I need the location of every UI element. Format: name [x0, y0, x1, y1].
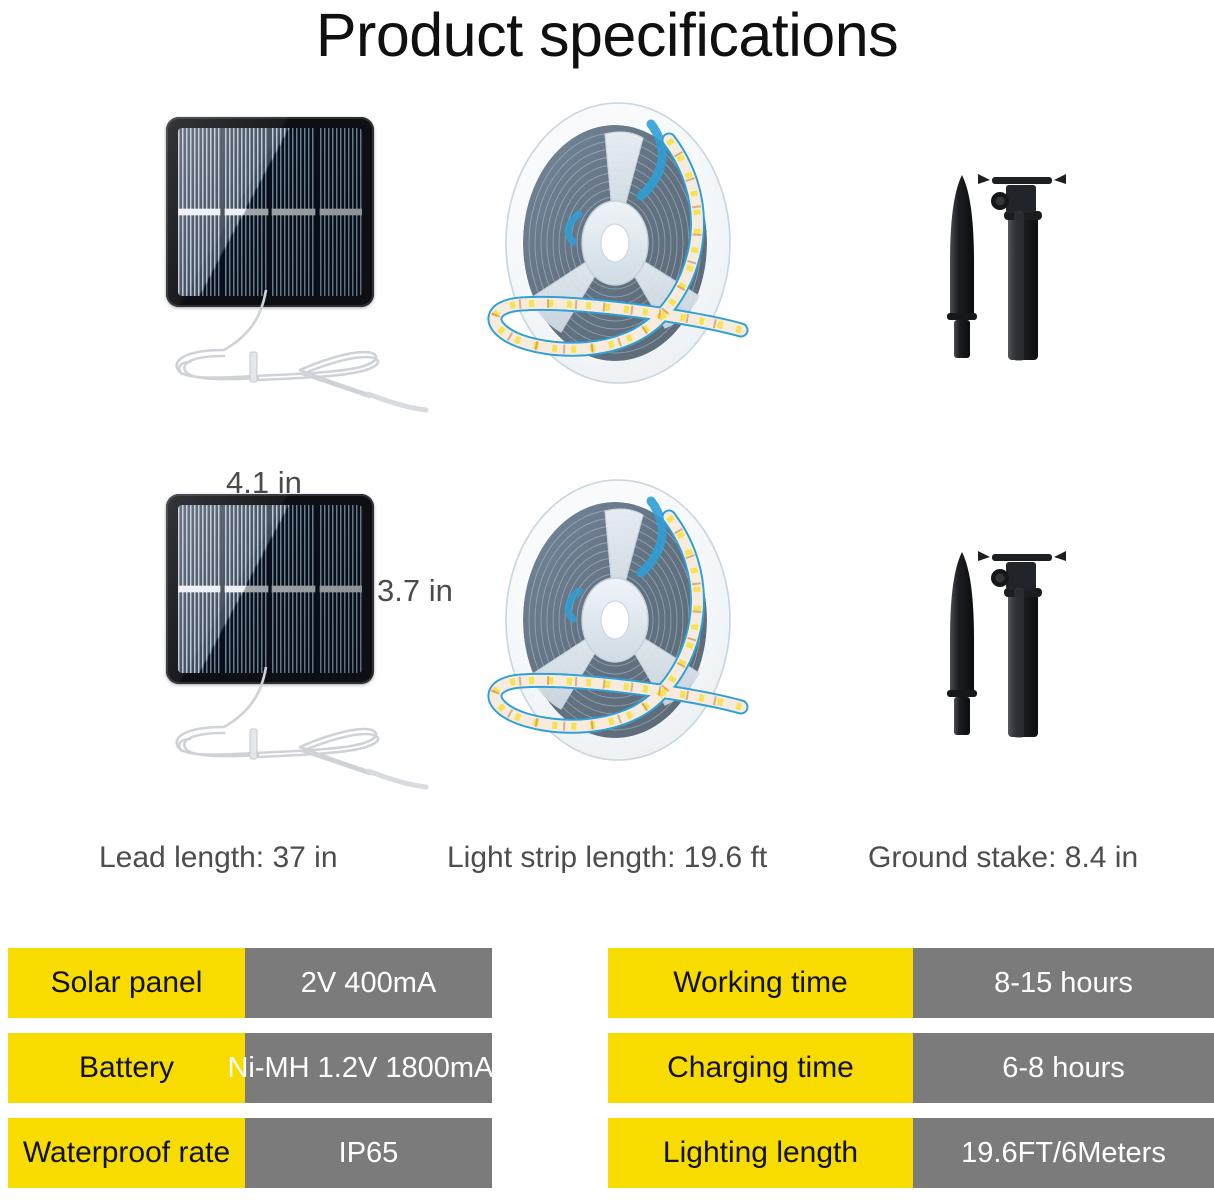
caption-ground-stake: Ground stake: 8.4 in — [868, 840, 1138, 876]
stake-clamp — [1006, 562, 1036, 590]
solar-cell — [320, 128, 362, 296]
spec-value: IP65 — [245, 1118, 492, 1188]
lead-cable-icon — [150, 290, 480, 425]
spec-pair: Battery Ni-MH 1.2V 1800mAh — [8, 1033, 492, 1103]
busbar — [272, 586, 314, 592]
busbar — [272, 209, 314, 215]
panel-height-dimension-label: 3.7 in — [377, 574, 453, 608]
spec-pair: Working time 8-15 hours — [608, 948, 1214, 1018]
solar-cell — [272, 128, 314, 296]
solar-cell — [178, 505, 220, 673]
stake-spike — [950, 552, 974, 692]
spec-value: 2V 400mA — [245, 948, 492, 1018]
solar-panel-cells — [178, 128, 362, 296]
solar-cell — [225, 505, 267, 673]
stake-clamp — [1006, 185, 1036, 213]
product-illustration-row — [0, 95, 1214, 425]
busbar — [225, 209, 267, 215]
spec-table: Solar panel 2V 400mA Working time 8-15 h… — [0, 948, 1214, 1203]
solar-cell — [272, 505, 314, 673]
busbar — [178, 209, 220, 215]
spec-label: Waterproof rate — [8, 1118, 245, 1188]
busbar — [320, 209, 362, 215]
spec-pair: Lighting length 19.6FT/6Meters — [608, 1118, 1214, 1188]
caption-lead-length: Lead length: 37 in — [99, 840, 338, 876]
spec-value: 8-15 hours — [913, 948, 1214, 1018]
table-row: Solar panel 2V 400mA Working time 8-15 h… — [0, 948, 1214, 1018]
stake-spike — [950, 175, 974, 315]
spec-label: Charging time — [608, 1033, 913, 1103]
lead-cable-icon — [150, 667, 480, 802]
caption-light-strip-length: Light strip length: 19.6 ft — [447, 840, 767, 876]
stake-bracket — [992, 554, 1052, 561]
busbar — [225, 586, 267, 592]
spec-pair: Waterproof rate IP65 — [8, 1118, 492, 1188]
table-row: Battery Ni-MH 1.2V 1800mAh Charging time… — [0, 1033, 1214, 1103]
busbar — [178, 586, 220, 592]
spec-label: Lighting length — [608, 1118, 913, 1188]
solar-panel-icon — [166, 117, 374, 307]
spec-value: 6-8 hours — [913, 1033, 1214, 1103]
led-strip-reel-icon — [455, 100, 785, 425]
spec-label: Working time — [608, 948, 913, 1018]
spec-label: Solar panel — [8, 948, 245, 1018]
solar-panel-cells — [178, 505, 362, 673]
busbar — [320, 586, 362, 592]
cable-tie — [250, 729, 257, 759]
solar-cell — [225, 128, 267, 296]
table-row: Waterproof rate IP65 Lighting length 19.… — [0, 1118, 1214, 1188]
solar-cell — [178, 128, 220, 296]
panel-width-dimension-label: 4.1 in — [226, 466, 302, 500]
spec-value: 19.6FT/6Meters — [913, 1118, 1214, 1188]
stake-bracket — [992, 177, 1052, 184]
spec-pair: Charging time 6-8 hours — [608, 1033, 1214, 1103]
page-title: Product specifications — [0, 2, 1214, 68]
ground-stake-icon — [930, 544, 1080, 744]
product-illustration-row — [0, 472, 1214, 802]
led-strip-reel-icon — [455, 477, 785, 802]
ground-stake-icon — [930, 167, 1080, 367]
cable-tie — [250, 352, 257, 382]
spec-label: Battery — [8, 1033, 245, 1103]
solar-panel-icon — [166, 494, 374, 684]
spec-value: Ni-MH 1.2V 1800mAh — [245, 1033, 492, 1103]
spec-pair: Solar panel 2V 400mA — [8, 948, 492, 1018]
solar-cell — [320, 505, 362, 673]
